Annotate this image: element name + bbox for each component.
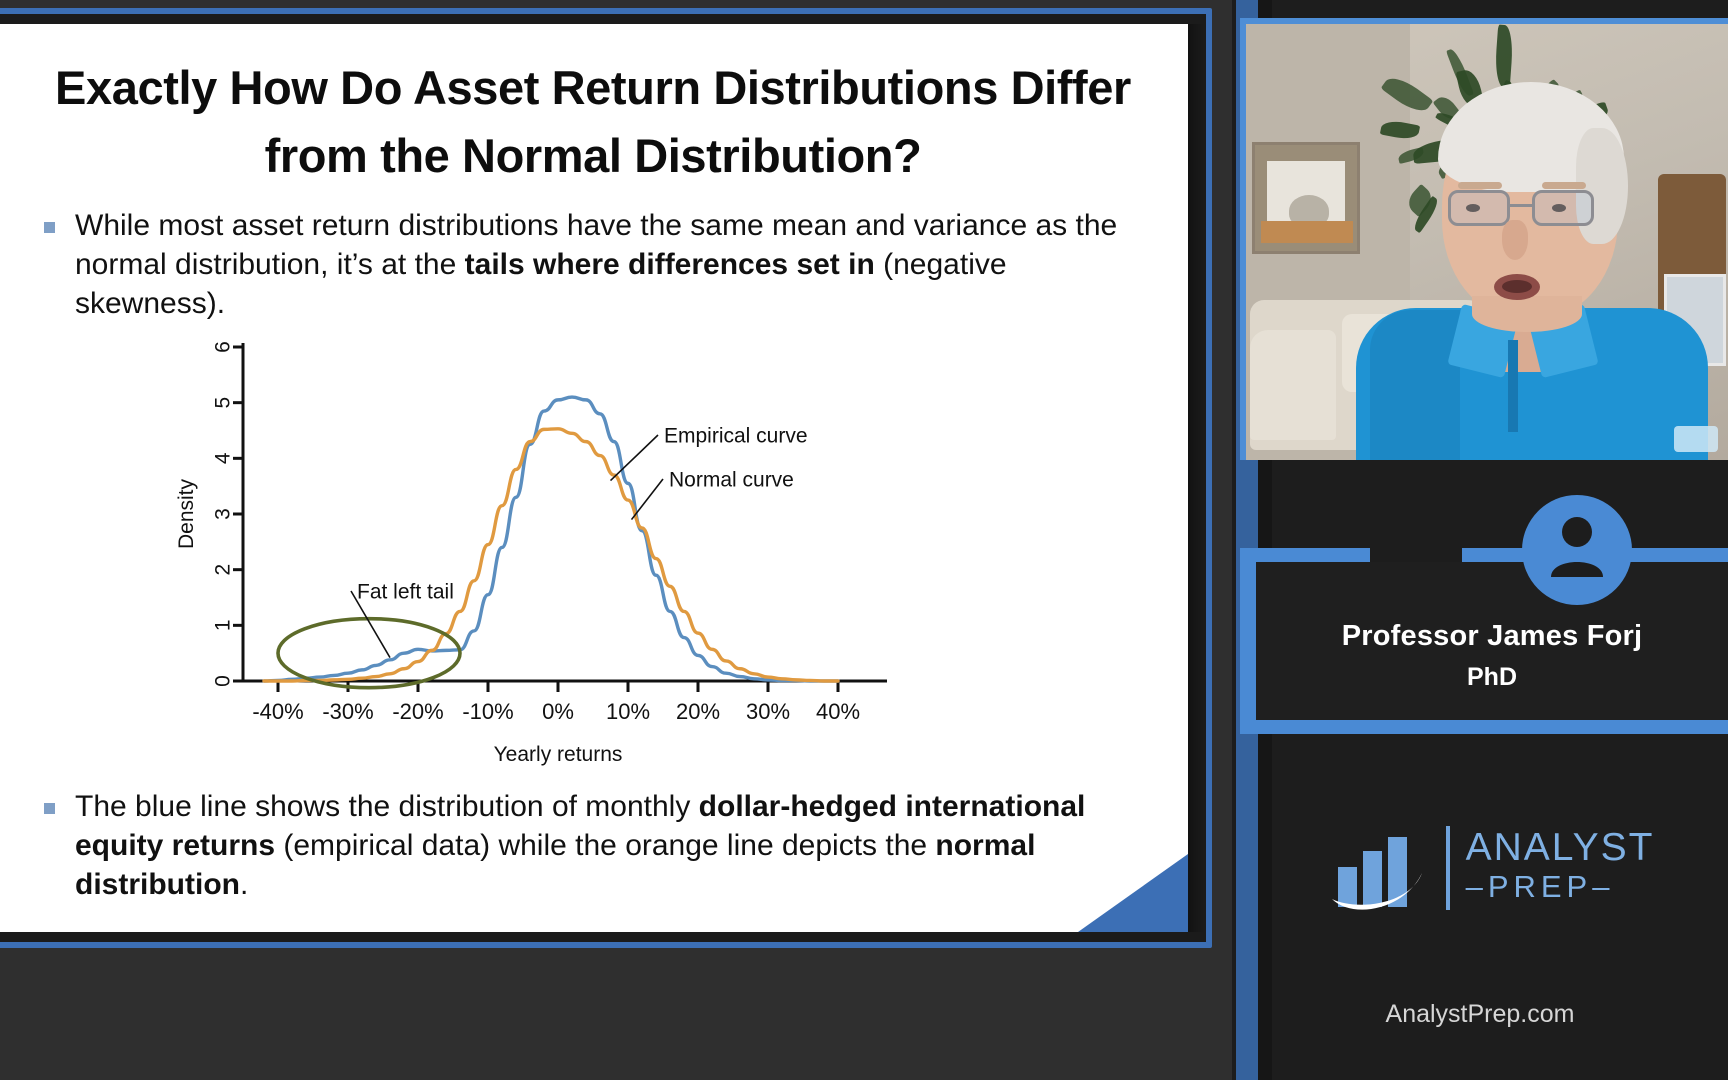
density-chart: 0123456Density-40%-30%-20%-10%0%10%20%30… [173,329,893,769]
bullet-item: While most asset return distributions ha… [44,206,1142,323]
svg-text:10%: 10% [606,699,650,724]
presenter-eyebrow-left [1458,182,1502,189]
slide-bullets-2: The blue line shows the distribution of … [44,787,1142,904]
brand-logo: ANALYST –PREP– [1272,815,1712,920]
sofa-arm [1250,330,1336,440]
svg-text:0%: 0% [542,699,574,724]
nameplate-border-left [1240,548,1256,734]
nameplate-border-bottom [1240,720,1728,734]
presenter-mouth-inner [1502,280,1532,293]
svg-text:4: 4 [212,452,235,464]
svg-text:1: 1 [212,620,235,632]
svg-text:Density: Density [175,479,198,550]
presenter-panel: Professor James Forj PhD ANALYST –PREP– … [1232,0,1728,1080]
plant-leaf [1380,72,1433,118]
bullet-marker-icon [44,803,55,814]
slide-corner-accent [1078,854,1188,932]
svg-text:40%: 40% [816,699,860,724]
svg-text:-10%: -10% [462,699,513,724]
svg-text:2: 2 [212,564,235,576]
presenter-degree: PhD [1467,663,1517,692]
plant-leaf [1379,118,1419,141]
svg-text:Normal curve: Normal curve [669,469,794,492]
presenter-nameplate: Professor James Forj PhD [1256,562,1728,720]
presenter-shirt-shoulder [1370,310,1460,460]
svg-text:Empirical curve: Empirical curve [664,425,808,448]
presenter-name: Professor James Forj [1342,620,1643,653]
bullet-text: While most asset return distributions ha… [75,206,1142,323]
shirt-placket [1508,340,1518,432]
slide-region: Exactly How Do Asset Return Distribution… [0,0,1232,1080]
svg-text:30%: 30% [746,699,790,724]
svg-text:5: 5 [212,397,235,409]
wall-art-frame [1252,142,1360,254]
avatar [1522,495,1632,605]
slide-edge-shadow [1188,24,1204,932]
brand-word-analyst: ANALYST [1466,828,1655,867]
svg-text:6: 6 [212,341,235,353]
bullet-marker-icon [44,222,55,233]
svg-text:Yearly returns: Yearly returns [494,743,623,766]
svg-text:-30%: -30% [322,699,373,724]
brand-divider [1446,826,1450,910]
webcam-frame[interactable] [1240,18,1728,460]
person-icon [1548,515,1606,581]
bullet-text: The blue line shows the distribution of … [75,787,1142,904]
brand-bar-chart-icon [1330,825,1430,911]
svg-text:20%: 20% [676,699,720,724]
nameplate-border-top-left [1240,548,1370,562]
svg-text:-20%: -20% [392,699,443,724]
svg-text:Fat left tail: Fat left tail [357,581,454,604]
eyeglasses-left-lens-icon [1448,190,1510,226]
svg-text:0: 0 [212,675,235,687]
presenter-chin [1472,296,1582,332]
density-chart-svg: 0123456Density-40%-30%-20%-10%0%10%20%30… [173,329,893,769]
wall-art-band [1261,221,1353,243]
presentation-screen: Exactly How Do Asset Return Distribution… [0,0,1728,1080]
slide-canvas: Exactly How Do Asset Return Distribution… [0,24,1188,932]
eyeglasses-right-lens-icon [1532,190,1594,226]
shirt-logo [1674,426,1718,452]
svg-text:-40%: -40% [252,699,303,724]
webcam-video[interactable] [1246,24,1728,460]
eyeglasses-bridge [1510,204,1532,207]
bullet-item: The blue line shows the distribution of … [44,787,1142,904]
brand-wordmark: ANALYST –PREP– [1466,828,1655,907]
slide-bullets: While most asset return distributions ha… [44,206,1142,323]
presenter-nose [1502,220,1528,260]
svg-text:3: 3 [212,508,235,520]
wall-art-image [1267,161,1345,223]
presenter-eyebrow-right [1542,182,1586,189]
site-url: AnalystPrep.com [1232,1000,1728,1029]
brand-word-prep: –PREP– [1466,867,1655,907]
slide-title: Exactly How Do Asset Return Distribution… [38,54,1148,190]
